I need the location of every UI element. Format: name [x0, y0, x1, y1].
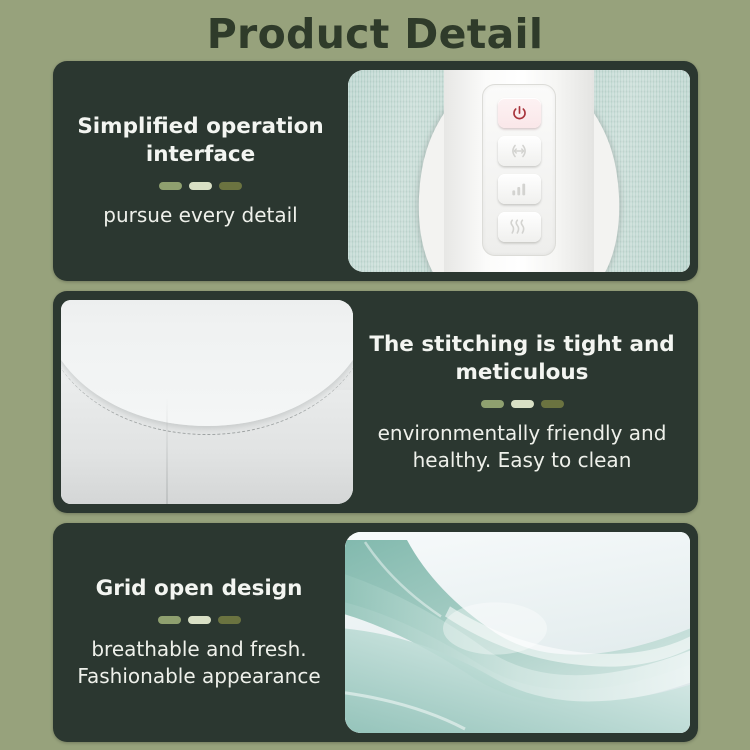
stitching-scene [61, 300, 353, 504]
card-heading: The stitching is tight and meticulous [356, 331, 688, 387]
signal-bars-icon [509, 181, 529, 198]
fabric-fold-line [166, 398, 168, 504]
divider-dash-3 [218, 616, 241, 624]
intensity-button[interactable] [498, 174, 541, 204]
divider-dash-1 [481, 400, 504, 408]
divider-dashes [481, 400, 564, 408]
draped-fabric-scene [345, 532, 690, 733]
page-title: Product Detail [0, 9, 750, 59]
feature-card-simplified-operation: Simplified operation interface pursue ev… [53, 61, 698, 281]
card-subtext: pursue every detail [103, 202, 297, 229]
feature-card-stitching: Close-up of white upholstery with curved… [53, 291, 698, 513]
card-subtext: environmentally friendly and healthy. Ea… [356, 420, 688, 474]
power-icon [510, 104, 529, 123]
divider-dash-1 [159, 182, 182, 190]
card-text-column: The stitching is tight and meticulous en… [346, 291, 698, 513]
product-detail-page: Product Detail Simplified operation inte… [0, 0, 750, 750]
feature-card-grid-open-design: Grid open design breathable and fresh. F… [53, 523, 698, 742]
divider-dash-2 [189, 182, 212, 190]
power-button[interactable] [498, 98, 541, 128]
card-text-column: Simplified operation interface pursue ev… [53, 61, 348, 281]
card-image-control-panel: Massager control panel with four buttons… [348, 70, 690, 272]
divider-dash-1 [158, 616, 181, 624]
heat-waves-icon [508, 218, 530, 236]
draped-fabric-illustration [345, 532, 690, 733]
card-heading: Grid open design [96, 575, 303, 603]
divider-dash-3 [541, 400, 564, 408]
control-button-strip [482, 84, 556, 256]
card-text-column: Grid open design breathable and fresh. F… [53, 523, 345, 742]
divider-dashes [158, 616, 241, 624]
divider-dashes [159, 182, 242, 190]
divider-dash-3 [219, 182, 242, 190]
mode-button[interactable] [498, 136, 541, 166]
divider-dash-2 [511, 400, 534, 408]
divider-dash-2 [188, 616, 211, 624]
card-subtext: breathable and fresh. Fashionable appear… [63, 636, 335, 690]
card-heading: Simplified operation interface [63, 113, 338, 169]
rotate-direction-icon [508, 142, 530, 160]
heat-button[interactable] [498, 212, 541, 242]
card-image-stitching: Close-up of white upholstery with curved… [61, 300, 353, 504]
card-image-draped-fabric: Flowing mint green draped fabric [345, 532, 690, 733]
control-panel-scene [348, 70, 690, 272]
